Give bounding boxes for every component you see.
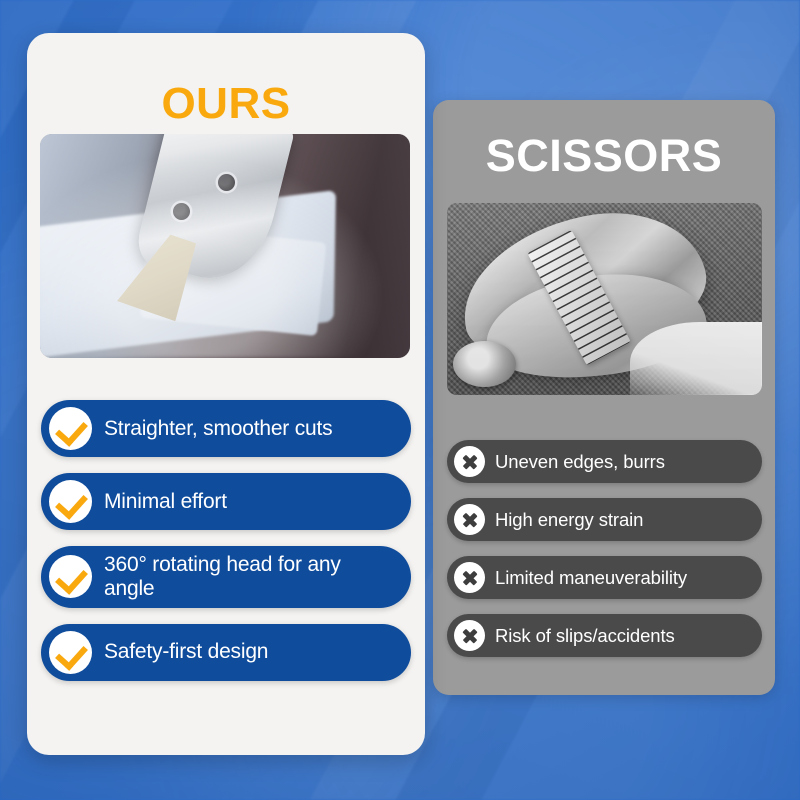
list-item: High energy strain [447, 498, 762, 541]
check-icon [49, 631, 92, 674]
drawback-label: Limited maneuverability [495, 567, 687, 588]
comparison-infographic: SCISSORS Uneven edges, burrs High energy… [0, 0, 800, 800]
list-item: Limited maneuverability [447, 556, 762, 599]
check-icon [49, 555, 92, 598]
scissors-panel: SCISSORS Uneven edges, burrs High energy… [433, 100, 775, 695]
feature-label: 360° rotating head for any angle [104, 553, 395, 601]
x-icon [454, 562, 485, 593]
drawback-label: Uneven edges, burrs [495, 451, 665, 472]
x-icon [454, 504, 485, 535]
list-item: Uneven edges, burrs [447, 440, 762, 483]
list-item: Straighter, smoother cuts [41, 400, 411, 457]
scissors-product-photo [447, 203, 762, 395]
check-icon [49, 480, 92, 523]
x-icon [454, 620, 485, 651]
ours-photo-haze [40, 134, 410, 358]
list-item: Minimal effort [41, 473, 411, 530]
drawback-label: Risk of slips/accidents [495, 625, 675, 646]
ours-card: OURS Straighter, smoother cuts Minimal e… [27, 33, 425, 755]
feature-label: Straighter, smoother cuts [104, 417, 336, 441]
drawback-label: High energy strain [495, 509, 643, 530]
scissors-photo-grade [447, 203, 762, 395]
scissors-drawback-list: Uneven edges, burrs High energy strain L… [447, 440, 762, 657]
x-icon [454, 446, 485, 477]
list-item: Safety-first design [41, 624, 411, 681]
feature-label: Minimal effort [104, 490, 231, 514]
ours-card-title: OURS [27, 79, 425, 129]
check-icon [49, 407, 92, 450]
ours-product-photo [40, 134, 410, 358]
feature-label: Safety-first design [104, 640, 272, 664]
ours-feature-list: Straighter, smoother cuts Minimal effort… [41, 400, 411, 681]
list-item: Risk of slips/accidents [447, 614, 762, 657]
scissors-panel-title: SCISSORS [433, 130, 775, 182]
list-item: 360° rotating head for any angle [41, 546, 411, 608]
